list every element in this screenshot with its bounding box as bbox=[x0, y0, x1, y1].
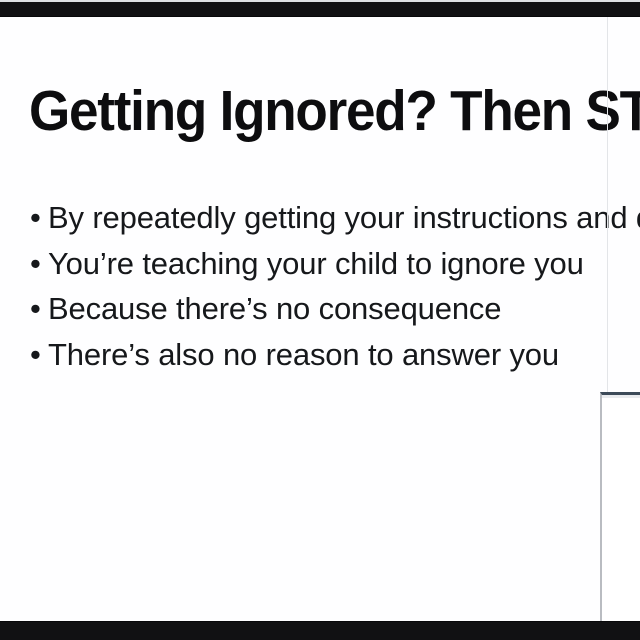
slide-bullet-list: • By repeatedly getting your instruction… bbox=[30, 195, 640, 377]
bullet-item: • There’s also no reason to answer you bbox=[30, 332, 640, 378]
bullet-item-label: Because there’s no consequence bbox=[48, 286, 501, 332]
letterbox-bar-bottom bbox=[0, 621, 640, 640]
bullet-item-label: You’re teaching your child to ignore you bbox=[48, 241, 584, 287]
bullet-point-icon: • bbox=[30, 241, 48, 287]
corner-content-box-header bbox=[602, 395, 640, 398]
bullet-item: • You’re teaching your child to ignore y… bbox=[30, 241, 640, 287]
bullet-item: • By repeatedly getting your instruction… bbox=[30, 195, 640, 241]
bullet-item: • Because there’s no consequence bbox=[30, 286, 640, 332]
bullet-item-label: By repeatedly getting your instructions … bbox=[48, 195, 640, 241]
corner-content-box bbox=[600, 392, 640, 622]
bullet-item-label: There’s also no reason to answer you bbox=[48, 332, 559, 378]
slide-canvas: Getting Ignored? Then STOP • By repeated… bbox=[0, 17, 640, 622]
video-slide-frame: Getting Ignored? Then STOP • By repeated… bbox=[0, 0, 640, 640]
bullet-point-icon: • bbox=[30, 195, 48, 241]
slide-title: Getting Ignored? Then STOP bbox=[29, 79, 640, 143]
bullet-point-icon: • bbox=[30, 286, 48, 332]
bullet-point-icon: • bbox=[30, 332, 48, 378]
letterbox-bar-top bbox=[0, 2, 640, 17]
